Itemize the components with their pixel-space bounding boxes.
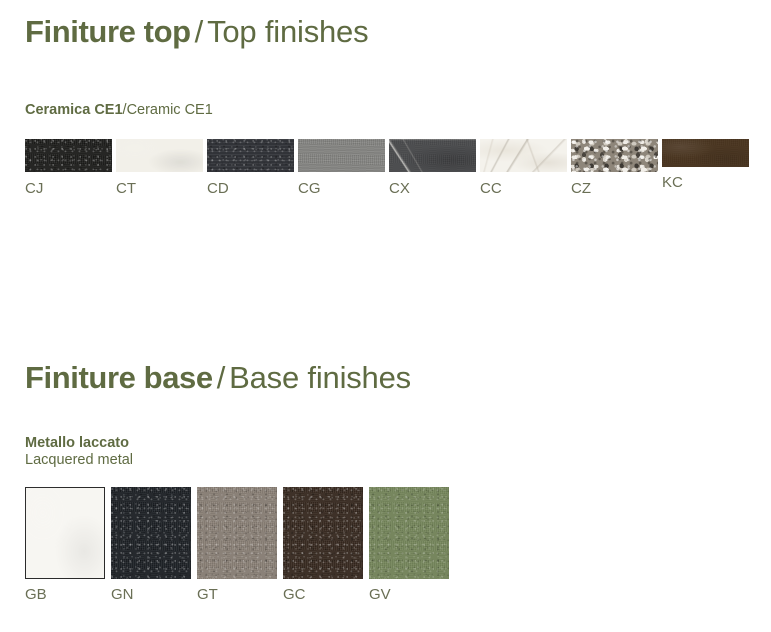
swatch-cell-cg[interactable]: CG [298,139,389,197]
swatch-color-cz[interactable] [571,139,658,172]
heading-english: Base finishes [229,360,411,395]
heading-separator: / [213,360,229,395]
swatch-label-cj: CJ [25,172,116,197]
swatch-color-gn[interactable] [111,487,191,579]
swatch-cell-cz[interactable]: CZ [571,139,662,197]
texture-overlay-grain [207,139,294,172]
swatch-label-cc: CC [480,172,571,197]
swatch-label-gv: GV [369,579,455,603]
texture-overlay-grain [662,139,749,167]
section-base-finishes: Finiture base/Base finishes Metallo lacc… [0,360,771,603]
swatch-row-top-finishes: CJ CT CD CG [0,139,771,197]
page-title-top-finishes: Finiture top/Top finishes [0,14,771,50]
texture-overlay-grain [111,487,191,579]
heading-english: Top finishes [207,14,368,49]
material-label-lacquered-metal: Metallo laccato Lacquered metal [0,435,771,469]
swatch-cell-cd[interactable]: CD [207,139,298,197]
swatch-color-cd[interactable] [207,139,294,172]
swatch-color-ct[interactable] [116,139,203,172]
swatch-color-gb[interactable] [25,487,105,579]
swatch-color-gv[interactable] [369,487,449,579]
section-top-finishes: Finiture top/Top finishes Ceramica CE1/C… [0,14,771,197]
swatch-cell-cx[interactable]: CX [389,139,480,197]
texture-overlay [116,139,203,172]
swatch-cell-gt[interactable]: GT [197,487,283,603]
swatch-color-cj[interactable] [25,139,112,172]
swatch-cell-kc[interactable]: KC [662,139,753,191]
swatch-label-ct: CT [116,172,207,197]
swatch-color-cg[interactable] [298,139,385,172]
swatch-color-cc[interactable] [480,139,567,172]
swatch-label-cx: CX [389,172,480,197]
texture-overlay-grain [25,139,112,172]
swatch-cell-gv[interactable]: GV [369,487,455,603]
swatch-label-cg: CG [298,172,389,197]
page-title-base-finishes: Finiture base/Base finishes [0,360,771,396]
swatch-color-kc[interactable] [662,139,749,167]
heading-italian: Finiture base [25,360,213,395]
swatch-cell-gn[interactable]: GN [111,487,197,603]
swatch-cell-cc[interactable]: CC [480,139,571,197]
heading-italian: Finiture top [25,14,191,49]
swatch-label-gb: GB [25,579,111,603]
swatch-row-base-finishes: GB GN GT GC [0,487,771,603]
texture-overlay [480,139,567,172]
swatch-label-gn: GN [111,579,197,603]
swatch-color-gt[interactable] [197,487,277,579]
texture-overlay-grain [197,487,277,579]
texture-overlay-grain [389,139,476,172]
material-name-english: Ceramic CE1 [127,102,213,118]
swatch-label-cz: CZ [571,172,662,197]
texture-overlay-grain [283,487,363,579]
material-label-ceramic: Ceramica CE1/Ceramic CE1 [0,102,771,119]
swatch-label-gt: GT [197,579,283,603]
swatch-cell-gb[interactable]: GB [25,487,111,603]
texture-overlay-grain [298,139,385,172]
texture-overlay-grain [369,487,449,579]
material-name-english: Lacquered metal [25,452,771,469]
swatch-color-gc[interactable] [283,487,363,579]
texture-overlay [25,487,105,579]
swatch-cell-gc[interactable]: GC [283,487,369,603]
swatch-cell-ct[interactable]: CT [116,139,207,197]
swatch-label-kc: KC [662,167,753,191]
material-name-italian: Metallo laccato [25,435,771,452]
swatch-label-cd: CD [207,172,298,197]
swatch-cell-cj[interactable]: CJ [25,139,116,197]
finishes-page: Finiture top/Top finishes Ceramica CE1/C… [0,0,771,632]
heading-separator: / [191,14,207,49]
swatch-label-gc: GC [283,579,369,603]
material-name-italian: Ceramica CE1 [25,102,123,118]
swatch-color-cx[interactable] [389,139,476,172]
texture-overlay-fine [571,139,658,172]
